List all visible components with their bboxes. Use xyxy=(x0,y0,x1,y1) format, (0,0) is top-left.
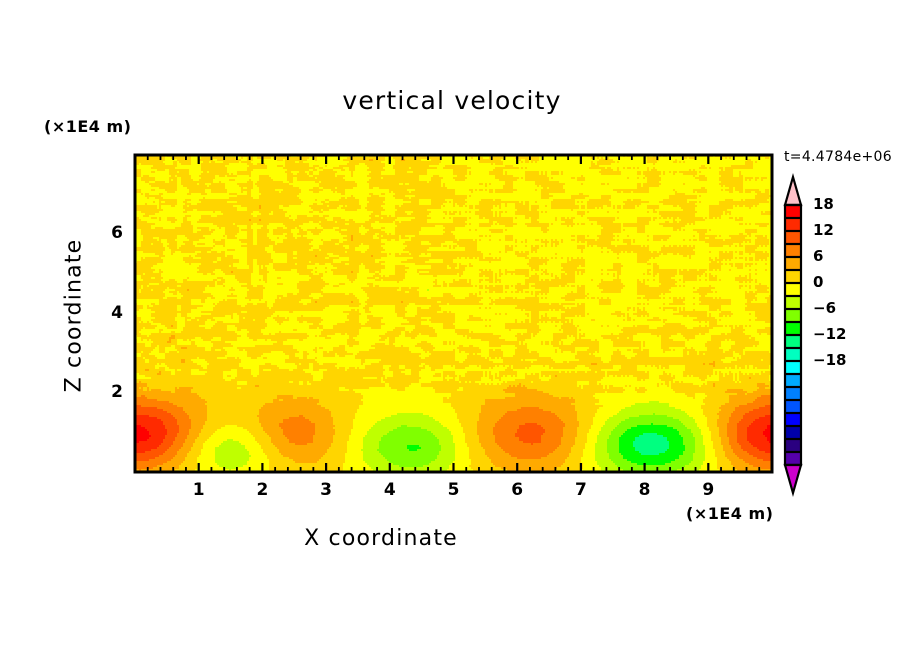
y-tick-label: 4 xyxy=(83,303,123,323)
colorbar-tick-label: −18 xyxy=(813,351,873,369)
y-tick-label: 6 xyxy=(83,223,123,243)
x-tick-label: 6 xyxy=(497,480,537,500)
x-tick-label: 9 xyxy=(688,480,728,500)
colorbar-tick-label: 0 xyxy=(813,273,873,291)
colorbar-tick-label: −12 xyxy=(813,325,873,343)
x-tick-label: 3 xyxy=(306,480,346,500)
x-tick-label: 1 xyxy=(179,480,219,500)
x-tick-label: 5 xyxy=(434,480,474,500)
x-tick-label: 2 xyxy=(242,480,282,500)
x-tick-label: 4 xyxy=(370,480,410,500)
colorbar-tick-label: 12 xyxy=(813,221,873,239)
contour-plot xyxy=(0,0,904,654)
x-tick-label: 8 xyxy=(625,480,665,500)
colorbar-tick-label: 6 xyxy=(813,247,873,265)
colorbar-tick-label: −6 xyxy=(813,299,873,317)
colorbar-tick-label: 18 xyxy=(813,195,873,213)
x-tick-label: 7 xyxy=(561,480,601,500)
figure-canvas: vertical velocity (×1E4 m) (×1E4 m) t=4.… xyxy=(0,0,904,654)
y-tick-label: 2 xyxy=(83,382,123,402)
